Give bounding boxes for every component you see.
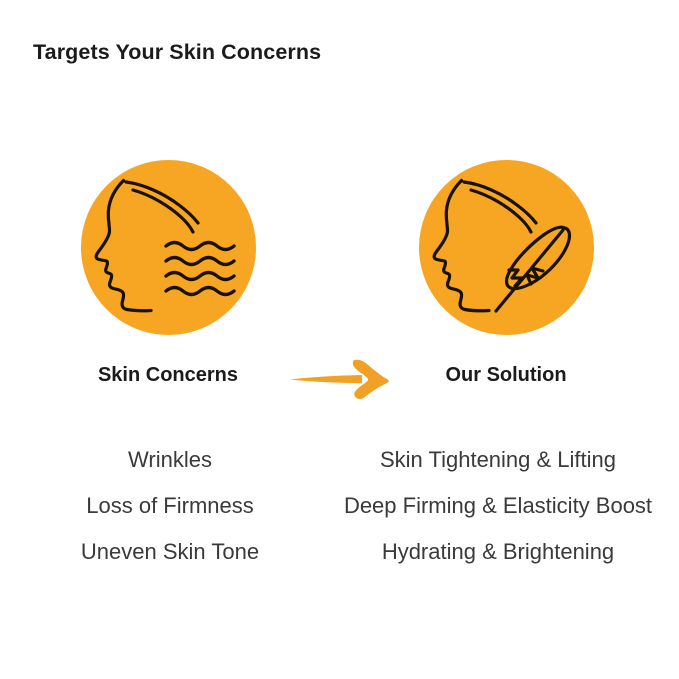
arrow-right-icon (288, 358, 400, 400)
our-solution-icon (419, 160, 594, 335)
concern-item: Wrinkles (25, 449, 315, 471)
page-title: Targets Your Skin Concerns (33, 40, 321, 65)
concern-item: Uneven Skin Tone (25, 541, 315, 563)
our-solution-caption: Our Solution (386, 364, 626, 387)
arrow-tail (290, 375, 362, 383)
skin-concerns-icon (81, 160, 256, 335)
list-row: Uneven Skin Tone Hydrating & Brightening (0, 529, 679, 575)
infographic-page: Targets Your Skin Concerns (0, 0, 679, 679)
solution-item: Skin Tightening & Lifting (323, 449, 673, 471)
concern-item: Loss of Firmness (25, 495, 315, 517)
concerns-solutions-list: Wrinkles Skin Tightening & Lifting Loss … (0, 437, 679, 575)
solution-item: Deep Firming & Elasticity Boost (323, 495, 673, 517)
list-row: Loss of Firmness Deep Firming & Elastici… (0, 483, 679, 529)
list-row: Wrinkles Skin Tightening & Lifting (0, 437, 679, 483)
skin-concerns-caption: Skin Concerns (48, 364, 288, 387)
solution-item: Hydrating & Brightening (323, 541, 673, 563)
